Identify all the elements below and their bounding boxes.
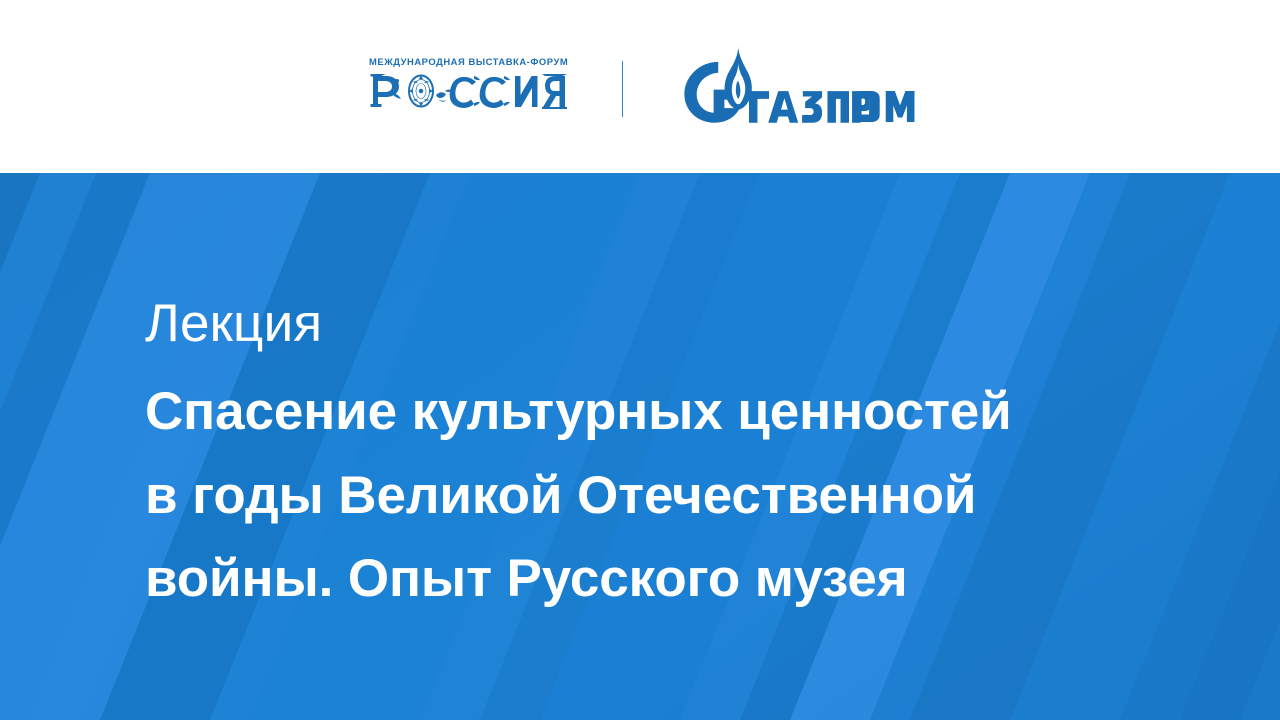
title-slide: МЕЖДУНАРОДНАЯ ВЫСТАВКА-ФОРУМ xyxy=(0,0,1280,720)
rossiya-wordmark-icon xyxy=(369,73,569,109)
lecture-headline: Спасение культурных ценностей в годы Вел… xyxy=(145,370,1205,621)
gazprom-logo xyxy=(669,45,919,125)
headline-line-2: в годы Великой Отечественной xyxy=(145,454,1205,538)
logo-row: МЕЖДУНАРОДНАЯ ВЫСТАВКА-ФОРУМ xyxy=(362,43,919,123)
gazprom-wordmark-tail-icon xyxy=(857,45,919,125)
logo-divider xyxy=(622,61,623,117)
headline-line-3: войны. Опыт Русского музея xyxy=(145,537,1205,621)
gazprom-wordmark-icon xyxy=(669,45,869,125)
title-block: Лекция Спасение культурных ценностей в г… xyxy=(145,297,1205,621)
rossiya-tagline: МЕЖДУНАРОДНАЯ ВЫСТАВКА-ФОРУМ xyxy=(369,57,568,68)
lecture-kicker: Лекция xyxy=(145,297,1205,350)
rossiya-logo: МЕЖДУНАРОДНАЯ ВЫСТАВКА-ФОРУМ xyxy=(362,57,576,109)
headline-line-1: Спасение культурных ценностей xyxy=(145,370,1205,454)
logo-band: МЕЖДУНАРОДНАЯ ВЫСТАВКА-ФОРУМ xyxy=(0,0,1280,173)
